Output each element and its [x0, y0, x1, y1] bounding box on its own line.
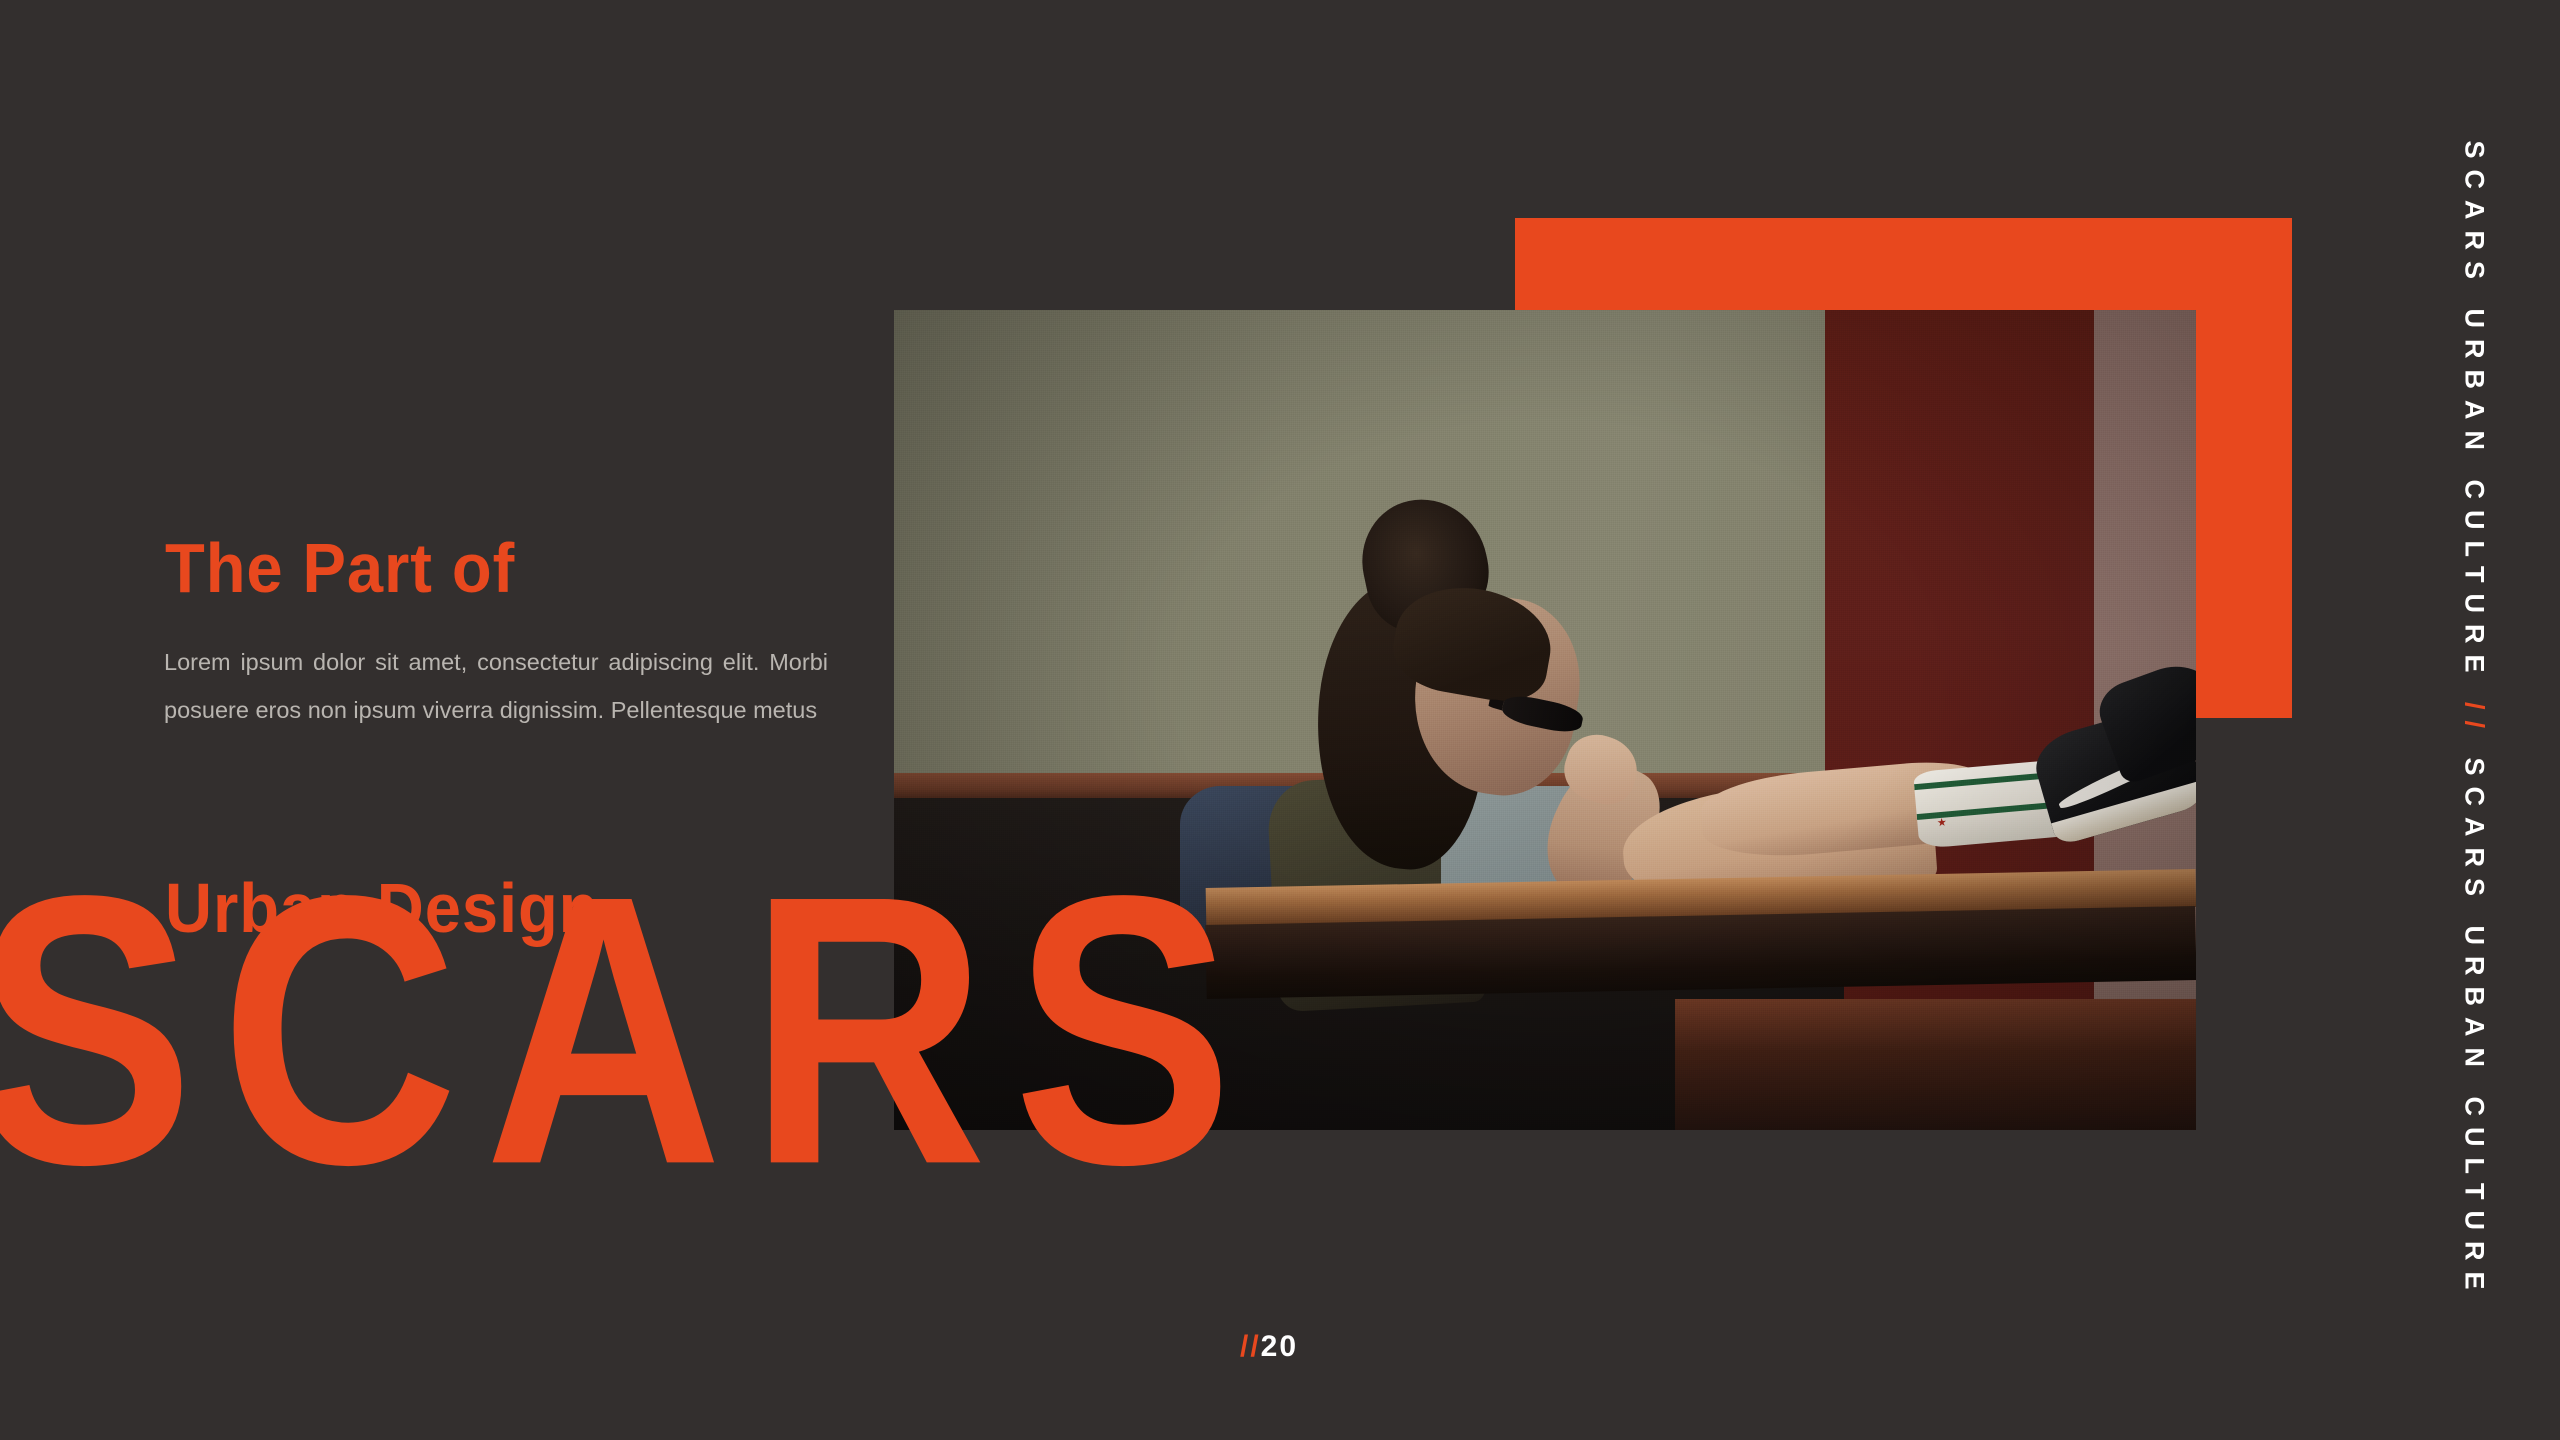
page-number-value: 20	[1261, 1330, 1298, 1363]
page-number-slashes: //	[1240, 1330, 1261, 1363]
page-number: //20	[1240, 1330, 1298, 1364]
vertical-text-separator: //	[2460, 701, 2490, 738]
vertical-brand-text: SCARS URBAN CULTURE // SCARS URBAN CULTU…	[2459, 140, 2490, 1300]
presentation-slide: ★ The Part of Urban Design Lorem ipsum d…	[0, 0, 2560, 1440]
vertical-brand-rail: SCARS URBAN CULTURE // SCARS URBAN CULTU…	[2444, 0, 2504, 1440]
slide-body-text: Lorem ipsum dolor sit amet, consectetur …	[164, 638, 828, 734]
headline-line-1: The Part of	[165, 512, 599, 625]
vertical-text-part-1: SCARS URBAN CULTURE	[2460, 140, 2490, 702]
brand-wordmark: SCARS	[0, 848, 1259, 1212]
vertical-text-part-2: SCARS URBAN CULTURE	[2460, 739, 2490, 1301]
